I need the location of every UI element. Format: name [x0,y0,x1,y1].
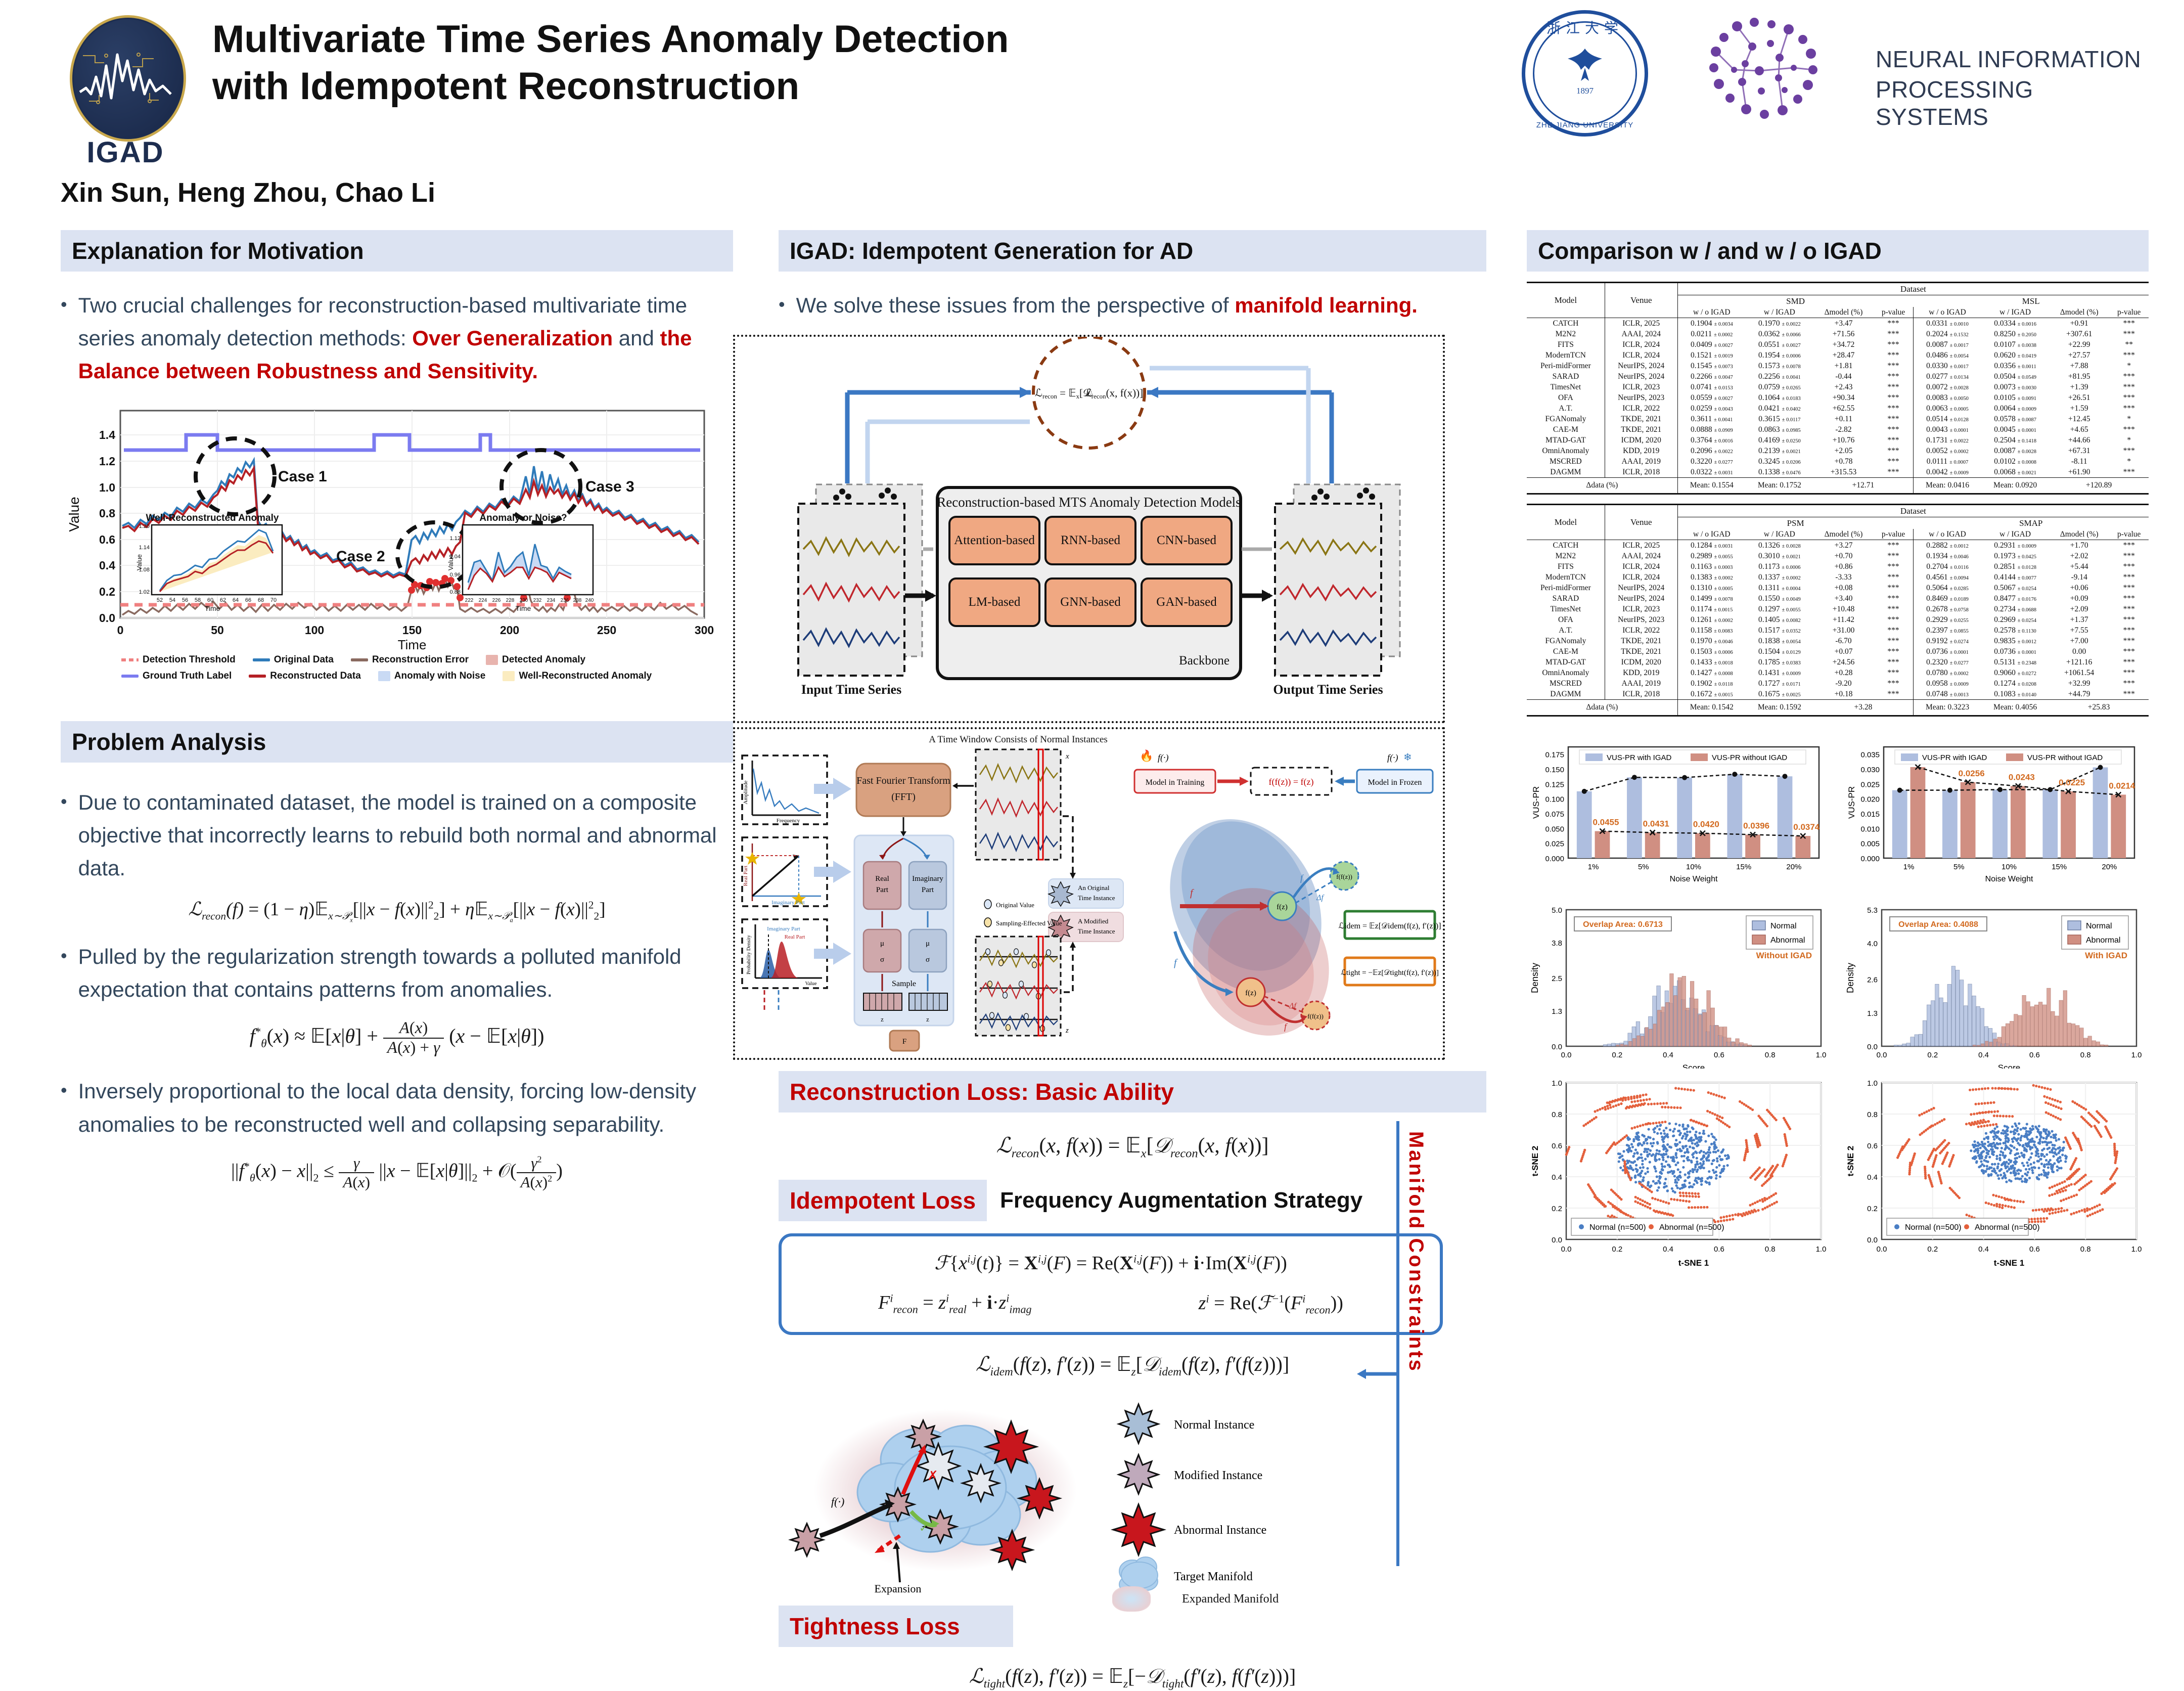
cell-pvalue-2: *** [2109,689,2149,700]
scatter-point-abnormal [1932,1124,1934,1127]
scatter-point-abnormal [2008,1115,2011,1118]
scatter-point-normal [1995,1172,1997,1174]
scatter-point-abnormal [1624,1172,1626,1174]
cell-w-igad: 0.1326 ± 0.0028 [1746,540,1813,551]
scatter-point-abnormal [1703,1206,1705,1209]
scatter-point-abnormal [1753,1209,1756,1211]
cell-summary-f: +120.89 [2049,478,2149,494]
cell-pvalue-2: *** [2109,382,2149,392]
cell-wo-igad-2: 0.0072 ± 0.0028 [1913,382,1981,392]
table-row: SARADNeurIPS, 20240.1499 ± 0.00780.1550 … [1527,593,2149,604]
scatter-point-normal [1630,1167,1632,1169]
cell-delta: +0.08 [1813,583,1874,593]
backbone-gnn: GNN-based [1060,595,1121,609]
scatter-point-normal [2005,1177,2007,1179]
scatter-point-abnormal [1685,1192,1688,1194]
zju-bird-icon [1555,46,1615,86]
hist-bar-abnormal [2104,1045,2108,1046]
table-row: TimesNetICLR, 20230.0741 ± 0.01530.0759 … [1527,382,2149,392]
cell-model: M2N2 [1527,551,1605,561]
cell-model: DAGMM [1527,467,1605,478]
scatter-point-normal [1719,1175,1721,1178]
scatter-point-abnormal [1656,1210,1658,1213]
problem-bullet-2: • Pulled by the regularization strength … [61,940,733,1006]
scatter-point-normal [1662,1159,1664,1161]
scatter-point-abnormal [1665,1102,1668,1104]
cell-model: ModernTCN [1527,572,1605,583]
motivation-timeseries-chart: 0.00.20.4 0.60.81.0 1.21.4 050100 150200… [61,401,733,653]
scatter-point-abnormal [2049,1088,2052,1091]
igad-detail-diagram: A Time Window Consists of Normal Instanc… [733,727,1445,1060]
scatter-point-abnormal [1985,1202,1987,1204]
scatter-point-normal [1996,1167,1999,1170]
scatter-point-abnormal [1717,1220,1719,1223]
scatter-point-normal [1992,1153,1994,1156]
scatter-point-abnormal [1661,1211,1664,1214]
scatter-point-normal [1641,1163,1644,1166]
backbone-cnn: CNN-based [1157,533,1217,547]
scatter-point-normal [1656,1141,1659,1143]
bar-data-label: 0.0225 [2059,778,2085,787]
svg-text:0.2: 0.2 [1927,1051,1938,1059]
scatter-point-abnormal [1622,1097,1624,1100]
logo-text: IGAD [61,136,190,169]
scatter-point-normal [1716,1157,1718,1160]
hist-bar-abnormal [2014,1014,2018,1046]
cell-pvalue-2: *** [2109,572,2149,583]
legend-item-detection-threshold: Detection Threshold [121,654,236,665]
svg-text:4.0: 4.0 [1867,940,1878,948]
svg-text:0.8: 0.8 [2080,1245,2091,1254]
scatter-point-abnormal [1785,1153,1788,1156]
cell-pvalue-2: *** [2109,403,2149,414]
scatter-point-normal [2010,1165,2012,1168]
cell-pvalue-2: * [2109,435,2149,446]
y-axis-label: Density [1845,963,1855,993]
scatter-point-normal [1688,1176,1691,1178]
cell-delta: +315.53 [1813,467,1874,478]
svg-text:f(f(z)): f(f(z)) [1336,873,1352,880]
legend-abnormal-instance-icon [1113,1504,1164,1555]
problem-bullet-1-text: Due to contaminated dataset, the model i… [78,786,733,884]
results-table-2-body: CATCHICLR, 20250.1284 ± 0.00310.1326 ± 0… [1527,540,2149,716]
scatter-point-abnormal [1651,1197,1654,1199]
cell-delta: -0.44 [1813,371,1874,382]
scatter-point-normal [2005,1137,2007,1140]
model-frozen-label: Model in Frozen [1368,778,1422,787]
scatter-point-normal [1715,1174,1718,1177]
scatter-point-normal [2038,1125,2040,1127]
scatter-point-normal [1679,1176,1682,1179]
scatter-point-normal [2047,1161,2050,1163]
svg-text:Time Instance: Time Instance [1078,894,1115,902]
corner-label: With IGAD [2085,951,2127,960]
scatter-point-normal [1695,1180,1698,1182]
results-table-psm-smap: Model Venue Dataset PSM SMAP w / o IGAD … [1527,504,2149,717]
table-row: OmniAnomalyKDD, 20190.2096 ± 0.00220.213… [1527,446,2149,456]
scatter-point-normal [1678,1141,1681,1143]
cell-w-igad-2: 0.0073 ± 0.0030 [1981,382,2049,392]
table-row: A.T.ICLR, 20220.1158 ± 0.00830.1517 ± 0.… [1527,625,2149,636]
scatter-point-abnormal [1977,1126,1980,1128]
output-time-series-group: Output Time Series [1273,484,1400,697]
cell-venue: NeurIPS, 2023 [1605,392,1677,403]
scatter-point-normal [2005,1140,2007,1142]
scatter-point-abnormal [1632,1104,1634,1107]
scatter-point-normal [1999,1138,2001,1141]
snowflake-icon: ❄ [1403,752,1412,763]
scatter-point-normal [1690,1161,1693,1164]
cell-venue: NeurIPS, 2024 [1605,371,1677,382]
amplitude-axis-label: Amplitude [743,780,749,804]
scatter-point-abnormal [1972,1088,1974,1091]
scatter-point-normal [1721,1150,1723,1153]
cell-wo-igad: 0.1545 ± 0.0073 [1677,361,1746,371]
scatter-point-normal [1986,1165,1988,1168]
cell-pvalue-2: *** [2109,678,2149,689]
scatter-point-abnormal [1995,1203,1998,1206]
svg-text:x: x [1065,752,1069,761]
scatter-point-normal [2024,1178,2026,1180]
scatter-point-normal [1652,1142,1655,1144]
svg-text:0.8: 0.8 [1552,1110,1562,1119]
scatter-point-abnormal [2059,1182,2061,1185]
scatter-point-abnormal [1670,1198,1672,1200]
scatter-point-abnormal [1948,1165,1950,1168]
scatter-point-normal [1659,1182,1661,1184]
scatter-point-normal [1695,1151,1698,1154]
cell-wo-igad: 0.1433 ± 0.0018 [1677,657,1746,668]
scatter-point-normal [1708,1146,1711,1149]
scatter-point-abnormal [2116,1150,2118,1153]
scatter-point-normal [1683,1151,1686,1154]
poster-root: IGAD Multivariate Time Series Anomaly De… [0,0,2184,1456]
scatter-point-abnormal [1636,1100,1639,1102]
cell-pvalue: *** [1874,646,1913,657]
svg-text:100: 100 [305,624,324,637]
scatter-point-normal [1682,1160,1685,1162]
scatter-point-abnormal [1630,1096,1632,1098]
scatter-point-abnormal [1687,1088,1689,1091]
hist-bar-abnormal [2100,1045,2104,1046]
legend-swatch-dashed-icon [121,658,139,661]
scatter-point-abnormal [1627,1096,1629,1099]
th-psm-delta: Δmodel (%) [1813,529,1874,540]
svg-text:150: 150 [402,624,422,637]
formula-reconstruction-loss: ℒrecon(x, f(x)) = 𝔼x[𝒟recon(x, f(x))] [779,1133,1486,1161]
scatter-point-normal [1993,1144,1996,1146]
cell-model: MSCRED [1527,456,1605,467]
cell-model: CATCH [1527,540,1605,551]
cell-model: CATCH [1527,318,1605,329]
cell-model: OmniAnomaly [1527,668,1605,678]
scatter-point-normal [1688,1182,1691,1184]
x-axis-label: Score [1682,1063,1705,1069]
svg-text:0.8: 0.8 [99,507,115,520]
hist-bar-normal [1919,1034,1922,1046]
scatter-point-abnormal [1646,1098,1648,1101]
scatter-point-abnormal [2051,1212,2054,1214]
scatter-point-abnormal [2089,1214,2091,1216]
scatter-point-normal [2045,1129,2047,1131]
scatter-point-normal [1658,1150,1661,1152]
scatter-point-normal [2014,1129,2016,1131]
svg-text:50: 50 [211,624,224,637]
scatter-point-abnormal [1705,1125,1708,1127]
manifold-surface: f(z) f(f(z)) f(z) f(f(z)) [1141,792,1358,1056]
scatter-point-abnormal [1975,1122,1978,1125]
input-time-series-label: Input Time Series [801,682,901,697]
cell-delta: +3.47 [1813,318,1874,329]
formula-recon-pair: Firecon = zireal + i·ziimag zi = Re(ℱ−1(… [795,1292,1427,1317]
normal-instance-star [963,1465,999,1501]
scatter-point-abnormal [1667,1213,1669,1215]
cell-venue: ICLR, 2024 [1605,572,1677,583]
svg-text:1%: 1% [1903,863,1915,871]
scatter-point-abnormal [1901,1148,1903,1151]
scatter-point-normal [1658,1152,1660,1155]
scatter-point-abnormal [1655,1122,1658,1124]
scatter-point-abnormal [2005,1115,2008,1118]
scatter-point-normal [1646,1142,1649,1144]
cell-model: CAE-M [1527,646,1605,657]
scatter-point-abnormal [1658,1121,1660,1124]
scatter-point-normal [1659,1124,1662,1126]
scatter-point-normal [1654,1127,1656,1129]
scatter-point-abnormal [1659,1102,1662,1105]
scatter-point-abnormal [2049,1187,2051,1189]
scatter-point-abnormal [1693,1089,1695,1092]
hist-bar-abnormal [2080,1028,2083,1046]
scatter-point-normal [1630,1143,1633,1145]
cell-delta: +31.00 [1813,625,1874,636]
scatter-point-abnormal [1766,1206,1768,1208]
hist-bar-normal [1964,1006,1968,1046]
input-window-top: x [976,749,1069,860]
scatter-point-abnormal [2099,1209,2101,1212]
scatter-point-normal [1978,1143,1981,1146]
svg-text:Δf: Δf [1289,1002,1297,1010]
scatter-point-normal [1995,1158,1998,1160]
svg-text:300: 300 [695,624,714,637]
cell-pvalue-2: *** [2109,636,2149,646]
manifold-constraints-arrow-icon [1350,1364,1400,1384]
scatter-point-normal [1991,1163,1993,1166]
scatter-point-normal [2057,1147,2059,1149]
cell-venue: KDD, 2019 [1605,446,1677,456]
svg-text:0.0: 0.0 [1877,1051,1887,1059]
scatter-point-normal [1658,1175,1661,1178]
hist-bar-normal [1906,1043,1910,1046]
scatter-point-abnormal [2094,1212,2097,1214]
hist-bar-abnormal [2022,995,2026,1046]
svg-text:250: 250 [597,624,616,637]
th-psm-p: p-value [1874,529,1913,540]
scatter-point-normal [1674,1181,1676,1183]
output-time-series-label: Output Time Series [1273,682,1383,697]
scatter-point-abnormal [1617,1103,1620,1106]
scatter-point-normal [1642,1166,1645,1169]
scatter-point-abnormal [2056,1183,2059,1186]
scatter-point-normal [2029,1131,2032,1134]
scatter-point-abnormal [1986,1124,1988,1127]
scatter-point-normal [1647,1182,1649,1184]
legend-item-reconstructed-data: Reconstructed Data [249,671,361,682]
scatter-point-normal [2010,1180,2012,1182]
cell-wo-igad: 0.1970 ± 0.0046 [1677,636,1746,646]
formula-error-bound: ||f*θ(x) − x||2 ≤ γA(x) ||x − 𝔼[x|θ]||2 … [61,1154,733,1191]
svg-text:0.4: 0.4 [1978,1245,1989,1254]
svg-text:228: 228 [506,598,515,603]
hist-bar-abnormal [2010,1021,2013,1046]
scatter-point-abnormal [2073,1212,2075,1215]
scatter-point-normal [1679,1132,1682,1134]
scatter-point-abnormal [2050,1103,2052,1106]
scatter-point-abnormal [2016,1088,2019,1091]
svg-text:3.8: 3.8 [1552,939,1562,948]
svg-text:1.0: 1.0 [1552,1079,1562,1088]
scatter-point-abnormal [2071,1100,2074,1103]
scatter-point-normal [1716,1160,1718,1163]
density-with-igad-chart: 0.01.32.64.05.30.00.20.40.60.81.0Overlap… [1842,902,2146,1069]
scatter-point-abnormal [2081,1209,2083,1212]
scatter-point-abnormal [2096,1211,2099,1213]
scatter-point-abnormal [1676,1106,1678,1109]
scatter-point-abnormal [1745,1139,1747,1142]
svg-text:0.2: 0.2 [99,585,115,598]
cell-summary-e: Mean: 0.0920 [1981,478,2049,494]
author-list: Xin Sun, Heng Zhou, Chao Li [61,177,435,208]
scatter-point-abnormal [1612,1105,1615,1108]
svg-text:0.025: 0.025 [1545,840,1564,849]
scatter-point-abnormal [1604,1106,1606,1108]
cell-venue: TKDE, 2021 [1605,646,1677,657]
scatter-point-normal [1686,1134,1689,1136]
scatter-point-normal [2047,1166,2050,1169]
scatter-point-abnormal [1711,1112,1714,1115]
scatter-point-normal [1978,1166,1980,1168]
motivation-chart-svg: 0.00.20.4 0.60.81.0 1.21.4 050100 150200… [61,401,733,653]
scatter-point-abnormal [1620,1198,1622,1200]
cell-summary-label: Δdata (%) [1527,478,1677,494]
scatter-point-abnormal [2052,1115,2055,1117]
scatter-point-normal [2030,1163,2032,1166]
svg-text:1.0: 1.0 [1816,1051,1827,1059]
scatter-point-abnormal [1728,1215,1731,1217]
scatter-point-abnormal [2001,1087,2004,1090]
scatter-point-normal [1997,1177,2000,1180]
formula-tightness-loss: ℒtight(f(z), f′(z)) = 𝔼z[−𝒟tight(f′(z), … [779,1664,1486,1691]
scatter-point-normal [2008,1147,2011,1150]
scatter-point-abnormal [2050,1114,2052,1116]
svg-text:Part: Part [922,886,934,894]
scatter-point-abnormal [1982,1111,1984,1114]
svg-text:f: f [1174,957,1178,968]
scatter-point-abnormal [1626,1105,1628,1108]
svg-text:5%: 5% [1953,863,1965,871]
scatter-point-abnormal [1996,1110,1999,1112]
cell-summary-f: +25.83 [2049,700,2149,716]
svg-text:0.6: 0.6 [2029,1051,2040,1059]
scatter-point-normal [1703,1151,1705,1153]
scatter-point-abnormal [1620,1211,1622,1213]
svg-text:0.025: 0.025 [1860,780,1880,789]
scatter-point-abnormal [1757,1209,1759,1212]
scatter-point-abnormal [2004,1198,2007,1201]
scatter-point-abnormal [1990,1203,1992,1206]
scatter-point-normal [1679,1187,1681,1190]
scatter-point-normal [2045,1159,2047,1162]
scatter-point-abnormal [2060,1210,2063,1213]
scatter-point-abnormal [1981,1121,1984,1124]
scatter-point-normal [1718,1155,1721,1158]
scatter-point-normal [2020,1177,2022,1180]
cell-w-igad: 0.1297 ± 0.0055 [1746,604,1813,614]
scatter-point-abnormal [1970,1113,1972,1116]
scatter-point-abnormal [1993,1110,1996,1113]
scatter-point-normal [1980,1157,1983,1160]
scatter-point-abnormal [1698,1195,1700,1198]
scatter-point-abnormal [1616,1099,1619,1101]
cell-delta-2: +61.90 [2049,467,2109,478]
scatter-point-normal [1654,1160,1657,1162]
bar-with-igad [1942,790,1958,858]
scatter-point-normal [1622,1159,1624,1161]
cell-delta-2: -8.11 [2049,456,2109,467]
cell-pvalue-2: *** [2109,540,2149,551]
legend-row-2: Ground Truth Label Reconstructed Data An… [121,671,733,682]
hist-bar-abnormal [2071,1024,2075,1046]
scatter-point-abnormal [2063,1180,2066,1183]
cell-wo-igad: 0.1163 ± 0.0003 [1677,561,1746,572]
scatter-point-normal [2016,1148,2018,1150]
hist-bar-normal [1939,998,1943,1046]
cell-delta-2: +7.55 [2049,625,2109,636]
scatter-point-abnormal [2094,1206,2096,1208]
scatter-point-normal [1702,1160,1705,1163]
scatter-point-normal [1660,1132,1662,1135]
scatter-point-abnormal [1737,1214,1739,1217]
scatter-point-normal [1672,1170,1675,1173]
hist-bar-normal [1972,996,1976,1046]
scatter-point-normal [1701,1177,1703,1180]
cell-venue: ICLR, 2024 [1605,350,1677,361]
hist-bar-normal [1902,1044,1906,1046]
scatter-point-abnormal [1751,1203,1754,1205]
cell-pvalue: *** [1874,540,1913,551]
cell-wo-igad: 0.1284 ± 0.0031 [1677,540,1746,551]
table-row: CATCHICLR, 20250.1284 ± 0.00310.1326 ± 0… [1527,540,2149,551]
scatter-point-normal [2025,1168,2027,1171]
scatter-point-normal [1672,1135,1674,1137]
scatter-point-normal [1689,1131,1691,1133]
title-line-2: with Idempotent Reconstruction [212,63,1400,110]
scatter-point-abnormal [1608,1101,1610,1104]
title-line-1: Multivariate Time Series Anomaly Detecti… [212,16,1400,63]
svg-text:230: 230 [520,598,528,603]
cell-pvalue-2: *** [2109,392,2149,403]
scatter-point-normal [2034,1126,2037,1128]
scatter-point-normal [1656,1175,1658,1178]
cell-wo-igad-2: 0.2024 ± 0.1532 [1913,329,1981,339]
table-summary-row: Δdata (%)Mean: 0.1542Mean: 0.1592+3.28Me… [1527,700,2149,716]
legend-label: Well-Reconstructed Anomaly [519,671,652,682]
svg-text:1.02: 1.02 [139,589,150,595]
cell-w-igad: 0.0759 ± 0.0265 [1746,382,1813,392]
scatter-point-abnormal [1734,1213,1737,1216]
scatter-point-abnormal [1989,1101,1992,1104]
scatter-point-abnormal [1992,1124,1994,1126]
